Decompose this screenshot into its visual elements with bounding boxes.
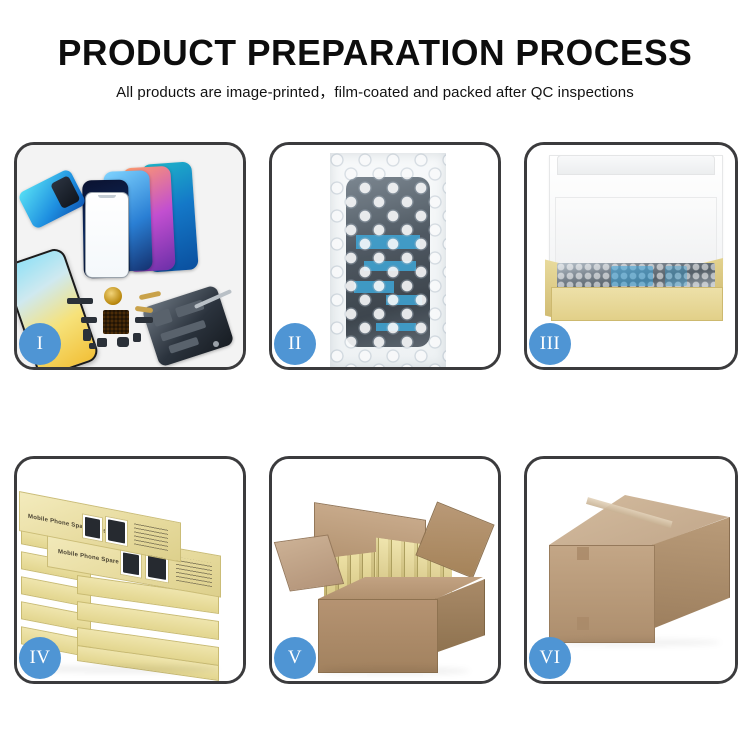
box-spec-lines-1	[134, 521, 168, 551]
step-panel-6[interactable]: VI	[524, 456, 738, 684]
connector-2	[83, 329, 91, 341]
carton-tape-bottom	[577, 617, 589, 630]
sealed-carton-front	[549, 545, 655, 643]
packed-product	[557, 263, 715, 290]
small-part-a	[133, 333, 141, 342]
camera-module	[117, 337, 129, 347]
box-front-panel	[551, 287, 723, 321]
step-panel-4[interactable]: Mobile Phone Spare Parts Mobile Phone Sp…	[14, 456, 246, 684]
small-part-b	[89, 343, 96, 349]
flex-cable-1	[139, 291, 162, 300]
vibration-motor	[104, 287, 122, 305]
box-window-a1	[82, 513, 103, 542]
box-lid-fold	[557, 155, 715, 175]
tempered-glass-screen	[85, 192, 129, 278]
blue-lcd-panel	[17, 168, 87, 230]
ic-chip-grid	[103, 310, 129, 334]
step-panel-2[interactable]: II	[269, 142, 501, 370]
step-panel-5[interactable]: V	[269, 456, 501, 684]
battery-connector	[97, 338, 107, 347]
sealed-carton-fold	[549, 545, 653, 546]
step-panel-3[interactable]: III	[524, 142, 738, 370]
step-badge-3: III	[529, 323, 571, 365]
sim-tray	[135, 317, 153, 323]
process-step-grid: I II	[0, 0, 750, 750]
step-badge-5: V	[274, 637, 316, 679]
connector-1	[81, 317, 97, 323]
box-inner-wall	[555, 197, 717, 265]
phone-notch	[98, 195, 116, 198]
speaker-module	[67, 298, 93, 304]
bubble-wrap-pouch	[330, 153, 446, 367]
step-badge-6: VI	[529, 637, 571, 679]
screw-set	[213, 341, 219, 347]
carton-shadow	[320, 667, 470, 675]
step-panel-1[interactable]: I	[14, 142, 246, 370]
carton-front-face	[318, 599, 438, 673]
sealed-carton-shadow	[551, 639, 721, 646]
step-badge-2: II	[274, 323, 316, 365]
carton-tape-top	[577, 547, 589, 560]
step-badge-4: IV	[19, 637, 61, 679]
box-spec-lines-2	[176, 557, 212, 587]
step-badge-1: I	[19, 323, 61, 365]
box-window-b1	[105, 516, 128, 547]
bubble-highlight-layer	[330, 153, 446, 367]
